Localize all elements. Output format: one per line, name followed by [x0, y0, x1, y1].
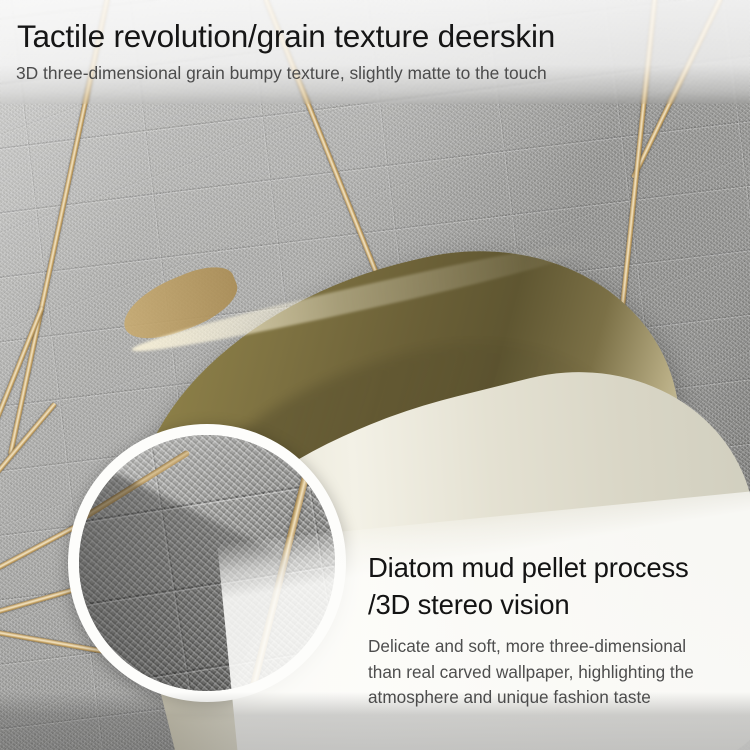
bottom-shadow-strip: [0, 692, 750, 750]
feature-text-block: Diatom mud pellet process /3D stereo vis…: [368, 549, 738, 711]
feature-title: Diatom mud pellet process /3D stereo vis…: [368, 549, 738, 623]
page-title: Tactile revolution/grain texture deerski…: [17, 18, 555, 55]
product-feature-image: Tactile revolution/grain texture deerski…: [0, 0, 750, 750]
page-subtitle: 3D three-dimensional grain bumpy texture…: [16, 63, 547, 84]
